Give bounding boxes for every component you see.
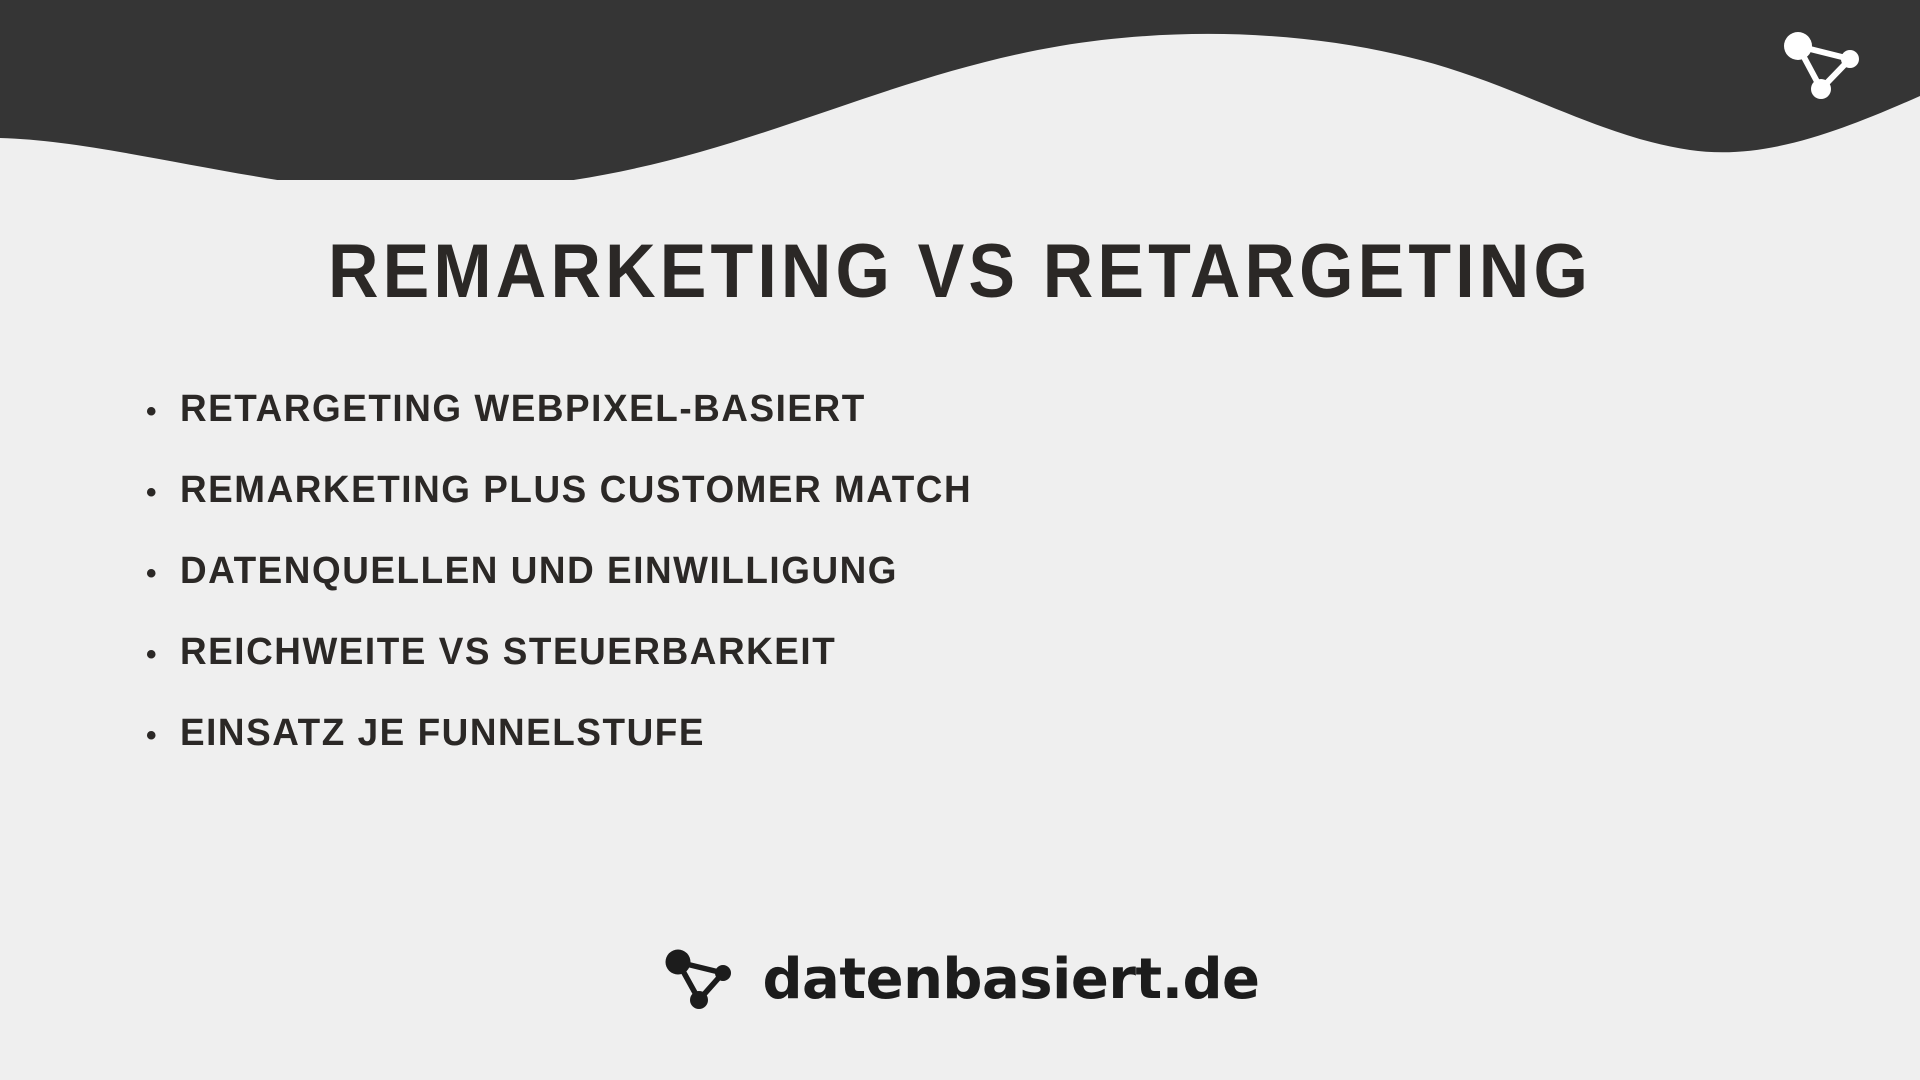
- bullet-list: • RETARGETING WEBPIXEL-BASIERT • REMARKE…: [146, 390, 1646, 795]
- footer-logo: [660, 944, 740, 1016]
- bullet-marker-icon: •: [146, 640, 180, 670]
- list-item: • EINSATZ JE FUNNELSTUFE: [146, 714, 1646, 795]
- bullet-marker-icon: •: [146, 397, 180, 427]
- bullet-marker-icon: •: [146, 478, 180, 508]
- page-title: REMARKETING VS RETARGETING: [77, 234, 1843, 310]
- footer-brand: datenbasiert.de: [0, 944, 1920, 1016]
- network-nodes-icon: [666, 950, 732, 1010]
- list-item: • REMARKETING PLUS CUSTOMER MATCH: [146, 471, 1646, 552]
- slide-canvas: REMARKETING VS RETARGETING • RETARGETING…: [0, 0, 1920, 1080]
- bullet-marker-icon: •: [146, 559, 180, 589]
- header-logo: [1776, 26, 1868, 106]
- footer-wordmark: datenbasiert.de: [762, 952, 1259, 1008]
- list-item-label: REICHWEITE VS STEUERBARKEIT: [180, 633, 836, 671]
- list-item: • RETARGETING WEBPIXEL-BASIERT: [146, 390, 1646, 471]
- list-item-label: DATENQUELLEN UND EINWILLIGUNG: [180, 552, 898, 590]
- list-item: • DATENQUELLEN UND EINWILLIGUNG: [146, 552, 1646, 633]
- list-item: • REICHWEITE VS STEUERBARKEIT: [146, 633, 1646, 714]
- list-item-label: RETARGETING WEBPIXEL-BASIERT: [180, 390, 866, 428]
- list-item-label: EINSATZ JE FUNNELSTUFE: [180, 714, 705, 752]
- network-nodes-icon: [1784, 32, 1859, 99]
- header-wave-band: [0, 0, 1920, 180]
- bullet-marker-icon: •: [146, 721, 180, 751]
- list-item-label: REMARKETING PLUS CUSTOMER MATCH: [180, 471, 972, 509]
